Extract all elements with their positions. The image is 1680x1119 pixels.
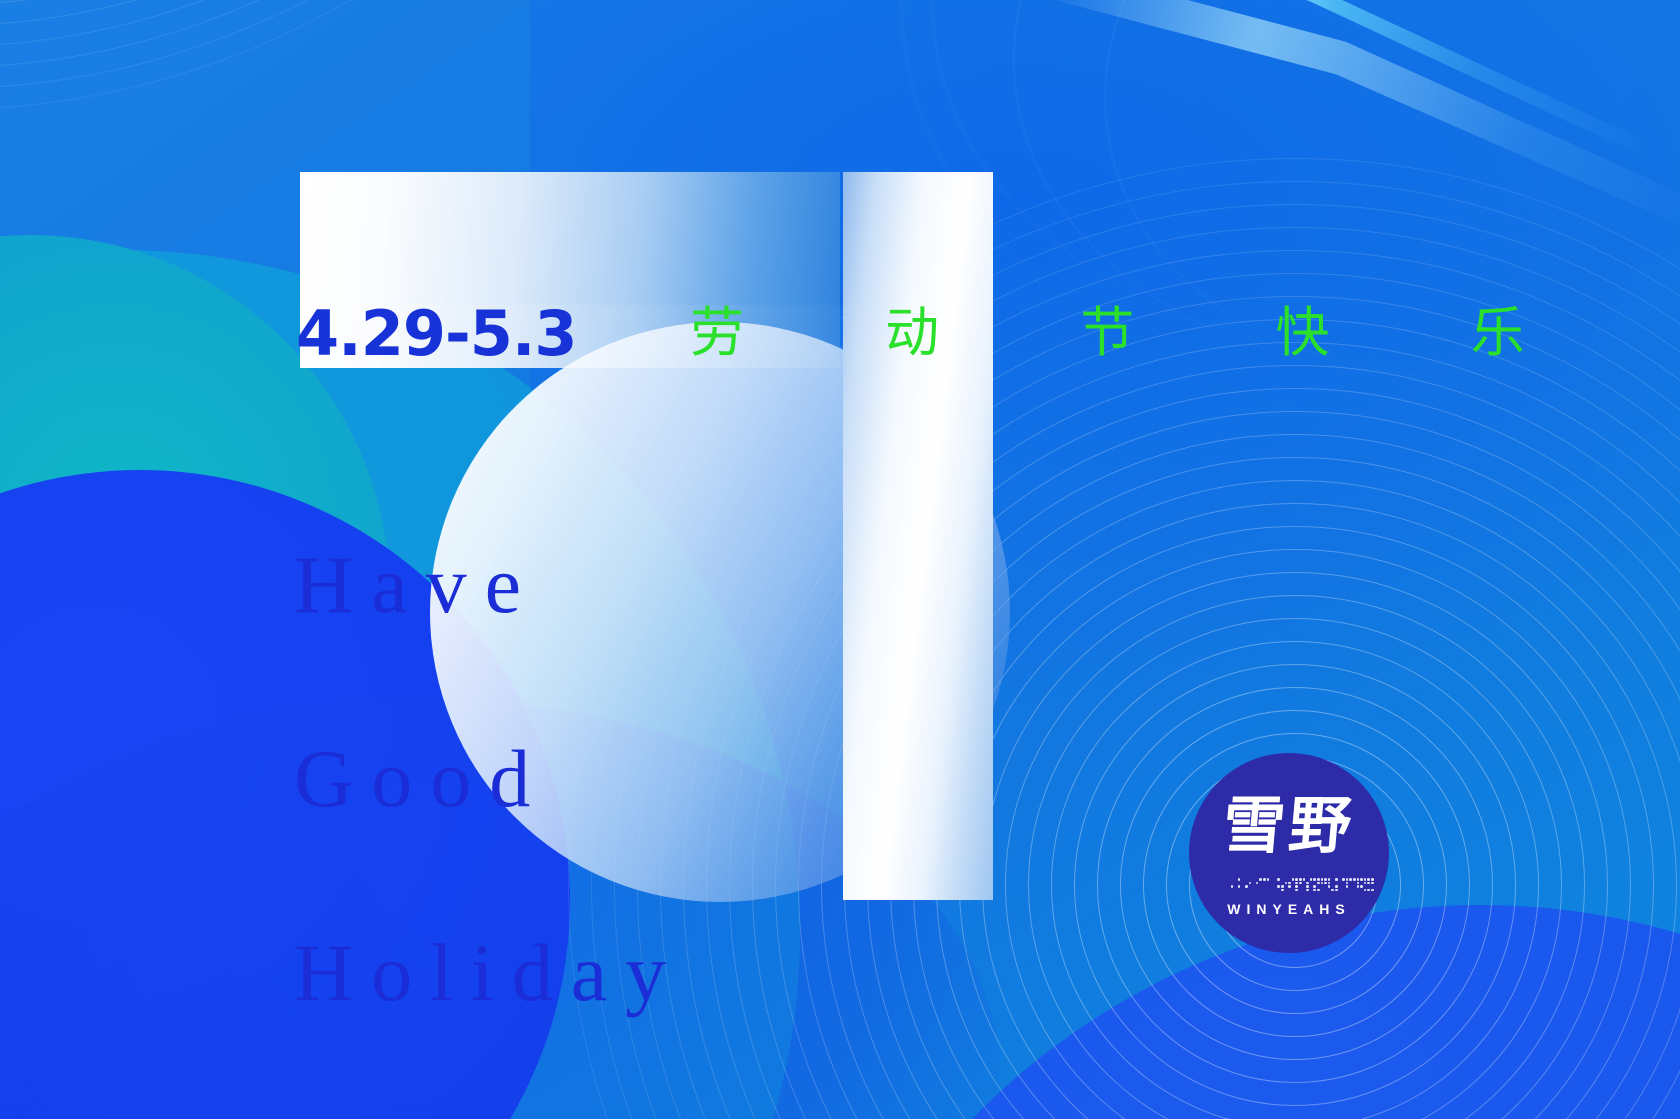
greeting-chinese-text: 劳 动 节 快 乐 [690, 306, 1587, 360]
brand-logo-dot-pattern [1209, 878, 1373, 892]
poster-canvas: 4.29-5.3 劳 动 节 快 乐 Have Good Holiday 雪野 … [0, 0, 1680, 1119]
greeting-english-line-1: Have [294, 488, 684, 682]
brand-logo-name: WINYEAHS [1189, 901, 1389, 917]
brand-logo[interactable]: 雪野 WINYEAHS [1189, 753, 1389, 953]
greeting-english-block: Have Good Holiday [294, 488, 684, 1070]
brand-logo-chinese-mark: 雪野 [1189, 795, 1389, 857]
numeral-1-stem [843, 172, 993, 900]
greeting-english-line-3: Holiday [294, 876, 684, 1070]
numeral-51-graphic [0, 0, 1680, 1119]
greeting-english-line-2: Good [294, 682, 684, 876]
date-range-text: 4.29-5.3 [296, 303, 577, 365]
